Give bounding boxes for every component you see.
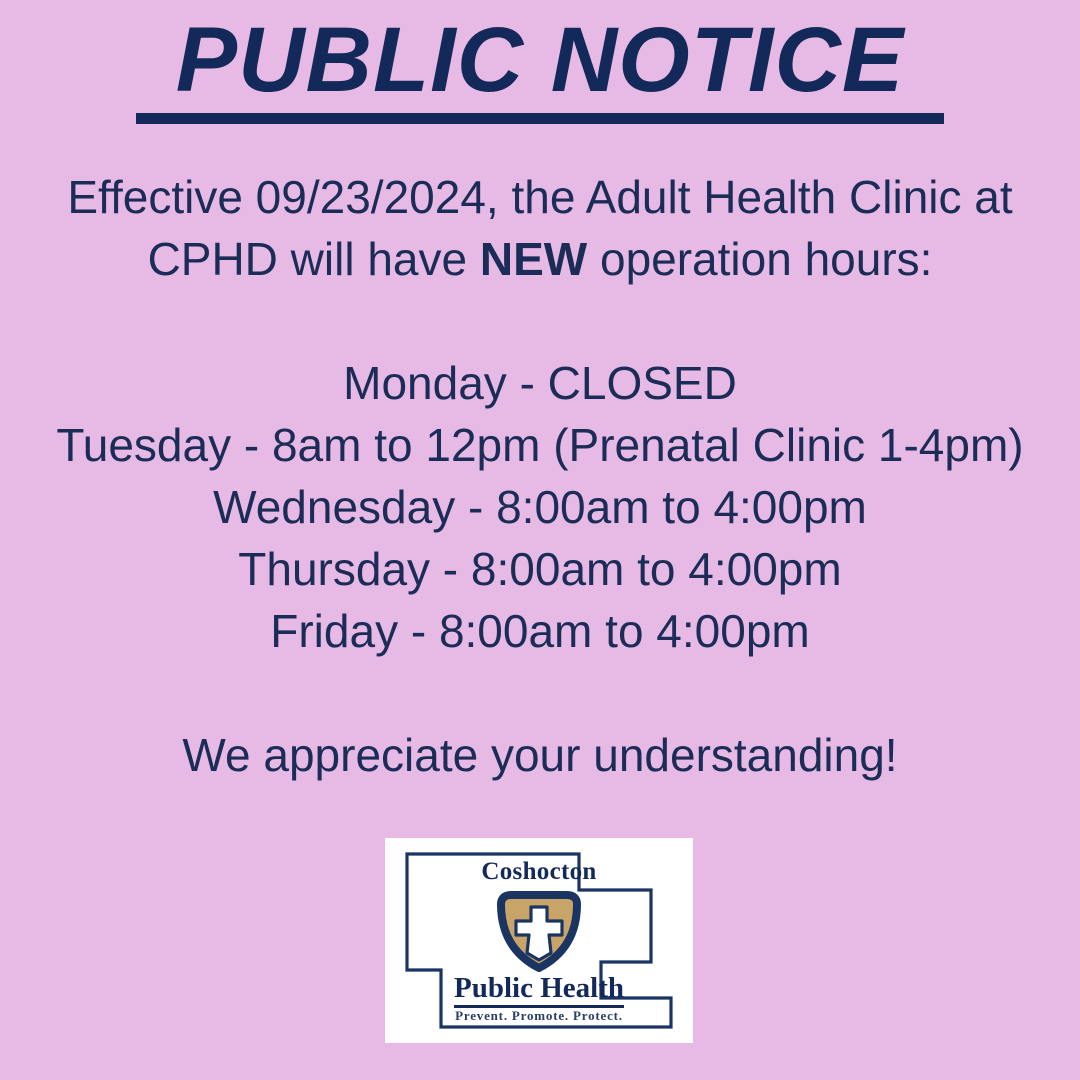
page-title: PUBLIC NOTICE xyxy=(172,14,909,106)
notice-body: Effective 09/23/2024, the Adult Health C… xyxy=(9,166,1071,786)
intro-new-emphasis: NEW xyxy=(480,233,587,285)
hours-line-thursday: Thursday - 8:00am to 4:00pm xyxy=(9,538,1071,600)
hours-line-monday: Monday - CLOSED xyxy=(9,352,1071,414)
intro-line-2: CPHD will have NEW operation hours: xyxy=(9,228,1071,290)
title-block: PUBLIC NOTICE xyxy=(0,14,1080,124)
shield-cross-icon xyxy=(405,890,673,977)
logo-org-name: Coshocton xyxy=(405,858,673,886)
hours-line-wednesday: Wednesday - 8:00am to 4:00pm xyxy=(9,476,1071,538)
logo-tagline: Prevent. Promote. Protect. xyxy=(405,1008,673,1024)
logo-inner: Coshocton Public Health Prevent. Promote… xyxy=(405,852,673,1029)
coshocton-public-health-logo: Coshocton Public Health Prevent. Promote… xyxy=(385,838,693,1043)
intro-line-2-prefix: CPHD will have xyxy=(148,233,480,285)
closing-line: We appreciate your understanding! xyxy=(9,724,1071,786)
logo-org-dept-text: Public Health xyxy=(454,972,624,1008)
public-notice-poster: PUBLIC NOTICE Effective 09/23/2024, the … xyxy=(0,0,1080,1080)
body-spacer-bottom xyxy=(9,662,1071,724)
intro-line-1: Effective 09/23/2024, the Adult Health C… xyxy=(9,166,1071,228)
body-spacer-top xyxy=(9,290,1071,352)
logo-org-dept: Public Health xyxy=(405,972,673,1005)
intro-line-2-suffix: operation hours: xyxy=(587,233,932,285)
hours-line-tuesday: Tuesday - 8am to 12pm (Prenatal Clinic 1… xyxy=(9,414,1071,476)
hours-line-friday: Friday - 8:00am to 4:00pm xyxy=(9,600,1071,662)
shield-cross-svg xyxy=(496,890,582,972)
title-underline-rule xyxy=(136,113,944,124)
